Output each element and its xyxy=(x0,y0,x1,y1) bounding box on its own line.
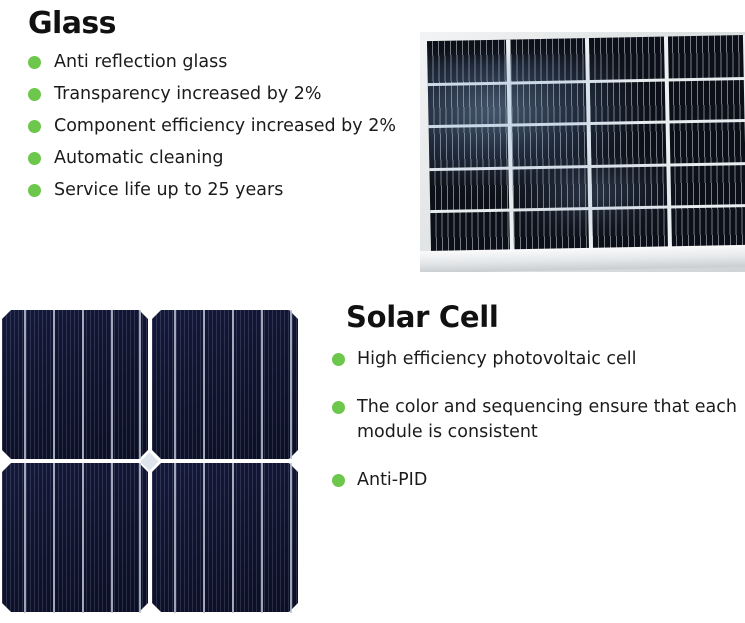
glass-feature-block: Glass Anti reflection glass Transparency… xyxy=(28,6,423,210)
bullet-dot-icon xyxy=(332,401,345,414)
list-item: Anti-PID xyxy=(326,468,745,493)
cell-busbar xyxy=(290,310,292,459)
panel-laminate xyxy=(427,35,745,255)
list-item-label: Component efficiency increased by 2% xyxy=(54,116,396,136)
cell-busbar xyxy=(203,310,205,459)
cell-busbar xyxy=(232,463,234,613)
list-item: Transparency increased by 2% xyxy=(28,82,423,106)
solar-cell-section-title: Solar Cell xyxy=(346,300,745,334)
cell-busbar xyxy=(261,463,263,613)
cell-busbar xyxy=(139,310,141,459)
solar-cell-feature-list: High efficiency photovoltaic cell The co… xyxy=(326,347,745,493)
cell-busbar xyxy=(82,310,84,459)
list-item: The color and sequencing ensure that eac… xyxy=(326,395,745,445)
cell-busbar xyxy=(139,463,141,613)
solar-cell-feature-block: Solar Cell High efficiency photovoltaic … xyxy=(320,300,745,516)
list-item-label: The color and sequencing ensure that eac… xyxy=(357,397,737,442)
cell-busbar xyxy=(261,310,263,459)
bullet-dot-icon xyxy=(28,120,41,133)
cell-busbar xyxy=(203,463,205,613)
list-item: Component efficiency increased by 2% xyxy=(28,114,423,138)
list-item-label: High efficiency photovoltaic cell xyxy=(357,349,637,369)
bullet-dot-icon xyxy=(28,184,41,197)
list-item: Automatic cleaning xyxy=(28,146,423,170)
list-item: Service life up to 25 years xyxy=(28,178,423,202)
bullet-dot-icon xyxy=(332,474,345,487)
list-item: Anti reflection glass xyxy=(28,50,423,74)
list-item-label: Anti-PID xyxy=(357,470,427,490)
list-item-label: Automatic cleaning xyxy=(54,148,223,168)
cell-busbar xyxy=(174,310,176,459)
glass-feature-list: Anti reflection glass Transparency incre… xyxy=(28,50,423,202)
cell-busbar xyxy=(82,463,84,613)
bullet-dot-icon xyxy=(28,56,41,69)
panel-row-gaps xyxy=(427,35,745,255)
bullet-dot-icon xyxy=(28,152,41,165)
cell-busbar xyxy=(232,310,234,459)
cell-busbar xyxy=(290,463,292,613)
bullet-dot-icon xyxy=(28,88,41,101)
list-item-label: Anti reflection glass xyxy=(54,52,227,72)
cell-busbar xyxy=(174,463,176,613)
solar-cell-photo xyxy=(2,310,298,613)
cell-busbar xyxy=(111,310,113,459)
cell-busbar xyxy=(53,310,55,459)
glass-section-title: Glass xyxy=(28,6,423,42)
cell-busbar xyxy=(24,463,26,613)
list-item: High efficiency photovoltaic cell xyxy=(326,347,745,372)
cell-busbar xyxy=(53,463,55,613)
cell-busbar xyxy=(24,310,26,459)
list-item-label: Service life up to 25 years xyxy=(54,180,283,200)
feature-page: Glass Anti reflection glass Transparency… xyxy=(0,0,745,623)
cell-busbar xyxy=(111,463,113,613)
bullet-dot-icon xyxy=(332,353,345,366)
solar-panel-photo xyxy=(420,32,745,272)
list-item-label: Transparency increased by 2% xyxy=(54,84,322,104)
